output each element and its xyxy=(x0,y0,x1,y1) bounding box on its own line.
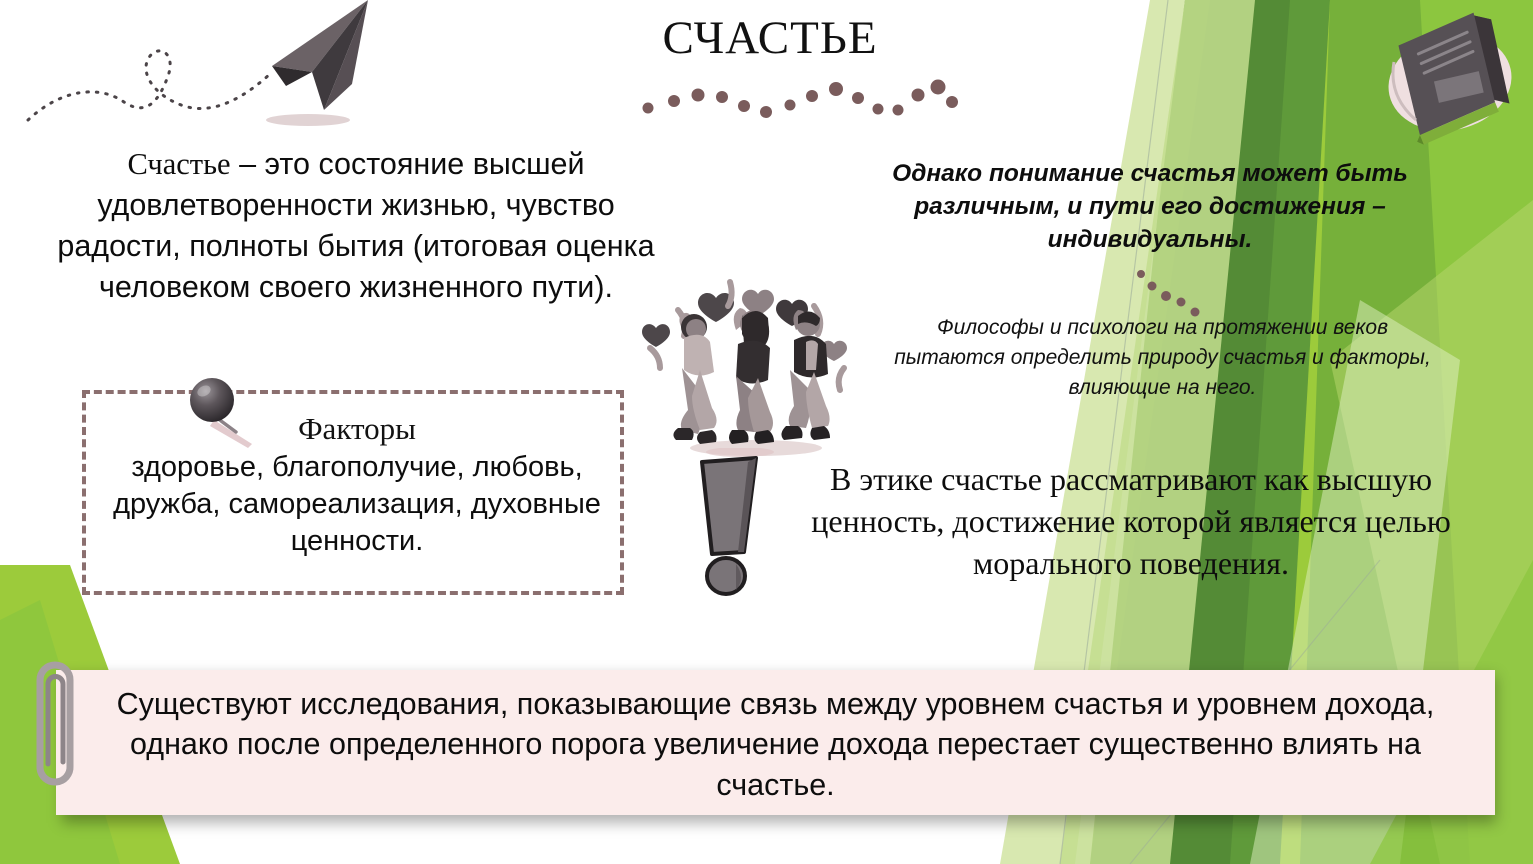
pushpin-icon xyxy=(182,368,272,458)
jumping-people-icon xyxy=(638,272,866,462)
paperclip-icon xyxy=(24,640,86,800)
ethics-text: В этике счастье рассматривают как высшую… xyxy=(775,458,1487,585)
book-icon xyxy=(1372,2,1532,157)
factors-box: Факторы здоровье, благополучие, любовь, … xyxy=(82,390,624,595)
factors-title: Факторы xyxy=(86,410,628,447)
bottom-banner: Существуют исследования, показывающие св… xyxy=(56,670,1495,815)
definition-lead: Счастье xyxy=(127,147,230,181)
definition-text: Счастье – это состояние высшей удовлетво… xyxy=(36,144,676,307)
slide-canvas: СЧАСТЬЕ Счастье – это с xyxy=(0,0,1533,864)
philosophers-text: Философы и психологи на протяжении веков… xyxy=(890,313,1435,402)
banner-text: Существуют исследования, показывающие св… xyxy=(82,684,1469,805)
factors-list: здоровье, благополучие, любовь, дружба, … xyxy=(86,449,628,559)
dotted-wave-icon xyxy=(640,78,960,122)
however-text: Однако понимание счастья может быть разл… xyxy=(845,158,1455,256)
page-title: СЧАСТЬЕ xyxy=(560,14,980,63)
exclamation-mark-icon xyxy=(678,448,790,600)
factors-content: Факторы здоровье, благополучие, любовь, … xyxy=(86,394,628,560)
paper-airplane-icon xyxy=(20,0,380,143)
